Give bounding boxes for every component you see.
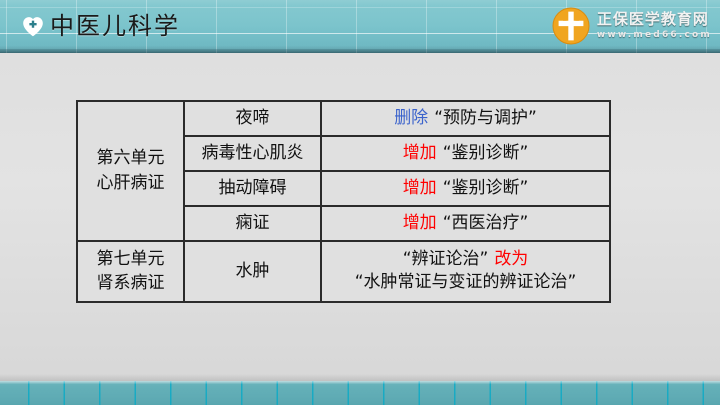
unit-label-line1: 第七单元 [82,247,179,272]
change-cell: 增加“西医治疗” [321,206,610,241]
change-line-one: “辨证论治”改为 [326,248,605,271]
footer-grid-pattern [0,381,720,405]
topic-cell: 病毒性心肌炎 [184,136,321,171]
unit-label-line2: 心肝病证 [82,171,179,196]
topic-cell: 水肿 [184,241,321,302]
brand-logo: 正保医学教育网 www.med66.com [551,6,712,46]
change-target: “鉴别诊断” [443,143,529,163]
topic-cell: 抽动障碍 [184,171,321,206]
footer-top-edge [0,381,720,384]
heart-cross-icon [22,16,44,37]
change-target: “鉴别诊断” [443,178,529,198]
unit-label-line1: 第六单元 [82,146,179,171]
page-title: 中医儿科学 [50,9,180,43]
unit-label-line2: 肾系病证 [82,271,179,296]
change-cell: 删除“预防与调护” [321,101,610,136]
change-target: “预防与调护” [434,108,537,128]
change-action: 增加 [403,178,437,198]
medical-cross-circle-logo-icon [551,6,591,46]
change-action: 改为 [494,249,528,269]
table-row: 第六单元 心肝病证 夜啼 删除“预防与调护” [77,101,610,136]
change-cell: 增加“鉴别诊断” [321,171,610,206]
change-action: 增加 [403,143,437,163]
header-bottom-edge [0,49,720,53]
body-bottom-shadow [0,374,720,381]
brand-name: 正保医学教育网 [597,12,712,27]
brand-text-block: 正保医学教育网 www.med66.com [597,12,712,40]
change-target: “水肿常证与变证的辨证论治” [326,271,605,294]
topic-cell: 夜啼 [184,101,321,136]
change-action: 删除 [394,108,428,128]
table-row: 第七单元 肾系病证 水肿 “辨证论治”改为 “水肿常证与变证的辨证论治” [77,241,610,302]
brand-url: www.med66.com [597,31,712,40]
unit-cell-seven: 第七单元 肾系病证 [77,241,184,302]
topic-cell: 痫证 [184,206,321,241]
slide-footer [0,381,720,405]
change-target: “西医治疗” [443,213,529,233]
change-cell: “辨证论治”改为 “水肿常证与变证的辨证论治” [321,241,610,302]
slide-canvas: 中医儿科学 正保医学教育网 www.med66.com 第六单 [0,0,720,405]
change-action: 增加 [403,213,437,233]
unit-cell-six: 第六单元 心肝病证 [77,101,184,241]
change-source: “辨证论治” [403,249,489,269]
change-cell: 增加“鉴别诊断” [321,136,610,171]
syllabus-changes-table: 第六单元 心肝病证 夜啼 删除“预防与调护” 病毒性心肌炎 增加“鉴别诊断” 抽… [76,100,611,303]
